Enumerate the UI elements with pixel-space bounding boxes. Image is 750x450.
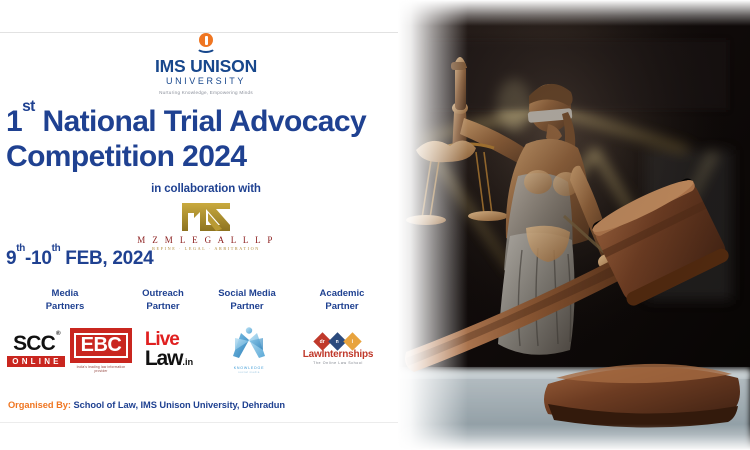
partner-heading-social: Social Media Partner — [202, 288, 292, 314]
date-start-suffix: th — [16, 243, 25, 254]
scc-online-band: ONLINE — [7, 356, 64, 367]
livelaw-logo: Live Law.in — [132, 331, 206, 368]
partner-heading-outreach-line2: Partner — [124, 301, 202, 314]
ebc-text: EBC — [74, 333, 129, 358]
partner-heading-academic-line2: Partner — [292, 301, 392, 314]
headline-ordinal-number: 1 — [6, 105, 22, 138]
partner-heading-media-line1: Media — [6, 288, 124, 301]
social-media-partner-logo: KNOWLEDGE social media — [206, 326, 292, 374]
ebc-logo: EBC India's leading law information prov… — [70, 328, 132, 373]
livelaw-law-text: Law.in — [145, 349, 193, 369]
date-month-year: FEB, 2024 — [60, 248, 153, 269]
partner-logos: SCC® ONLINE EBC India's leading law info… — [2, 326, 410, 374]
social-partner-tagline: social media — [229, 370, 269, 374]
collaboration-label: in collaboration with — [0, 183, 412, 195]
partner-headings: Media Partners Outreach Partner Social M… — [6, 288, 410, 314]
scc-text: SCC — [13, 332, 55, 355]
lawinternships-name: LawInternships — [303, 349, 374, 360]
livelaw-law-word: Law — [145, 347, 183, 370]
ebc-tagline: India's leading law information provider — [70, 365, 133, 373]
partner-heading-media: Media Partners — [6, 288, 124, 314]
lawinternships-logo: dr n i LawInternships The Online Law Sch… — [292, 335, 384, 365]
lady-justice-photo — [398, 0, 750, 450]
diamond-orange-icon: i — [344, 332, 362, 350]
university-name: IMS UNISON — [0, 57, 412, 75]
event-poster: IMS UNISON UNIVERSITY Nurturing Knowledg… — [0, 0, 750, 450]
university-tagline: Nurturing Knowledge, Empowering Minds — [0, 90, 412, 95]
scc-online-wordmark: SCC® — [13, 333, 59, 354]
scc-online-logo: SCC® ONLINE — [2, 333, 70, 367]
partner-heading-outreach-line1: Outreach — [124, 288, 202, 301]
headline-line1-rest: National Trial Advocacy — [35, 105, 366, 138]
organiser-line: Organised By: School of Law, IMS Unison … — [8, 400, 285, 410]
partner-heading-academic-line1: Academic — [292, 288, 392, 301]
mzm-monogram-icon — [178, 199, 234, 233]
headline-line1: 1st National Trial Advocacy — [6, 105, 366, 138]
date-end-day: 10 — [31, 248, 52, 269]
partner-heading-academic: Academic Partner — [292, 288, 392, 314]
poster-content: IMS UNISON UNIVERSITY Nurturing Knowledg… — [0, 0, 412, 450]
lawinternships-tagline: The Online Law School — [303, 361, 374, 365]
organiser-prefix: Organised By: — [8, 400, 71, 410]
page-title: 1st National Trial Advocacy Competition … — [6, 104, 406, 174]
mzm-legal-logo: M Z M L E G A L L L P REFINE · LEGAL · A… — [0, 199, 412, 251]
mzm-legal-name: M Z M L E G A L L L P — [0, 235, 412, 245]
event-dates: 9th-10th FEB, 2024 — [6, 248, 153, 270]
partner-heading-media-line2: Partners — [6, 301, 124, 314]
livelaw-domain: .in — [182, 357, 193, 367]
date-end-suffix: th — [52, 243, 61, 254]
headline-line2: Competition 2024 — [6, 140, 246, 173]
k-person-star-icon — [229, 326, 269, 360]
university-subname: UNIVERSITY — [0, 76, 412, 86]
headline-ordinal-suffix: st — [22, 98, 35, 115]
date-start-day: 9 — [6, 248, 16, 269]
partner-heading-outreach: Outreach Partner — [124, 288, 202, 314]
university-logo: IMS UNISON UNIVERSITY Nurturing Knowledg… — [0, 33, 412, 95]
ebc-wordmark: EBC — [70, 328, 133, 363]
partner-heading-social-line1: Social Media — [202, 288, 292, 301]
lawinternships-diamonds-icon: dr n i — [303, 335, 374, 348]
partner-heading-social-line2: Partner — [202, 301, 292, 314]
organiser-text: School of Law, IMS Unison University, De… — [71, 400, 285, 410]
ims-unison-roundel-icon — [196, 33, 216, 55]
scc-registered-icon: ® — [56, 330, 60, 337]
